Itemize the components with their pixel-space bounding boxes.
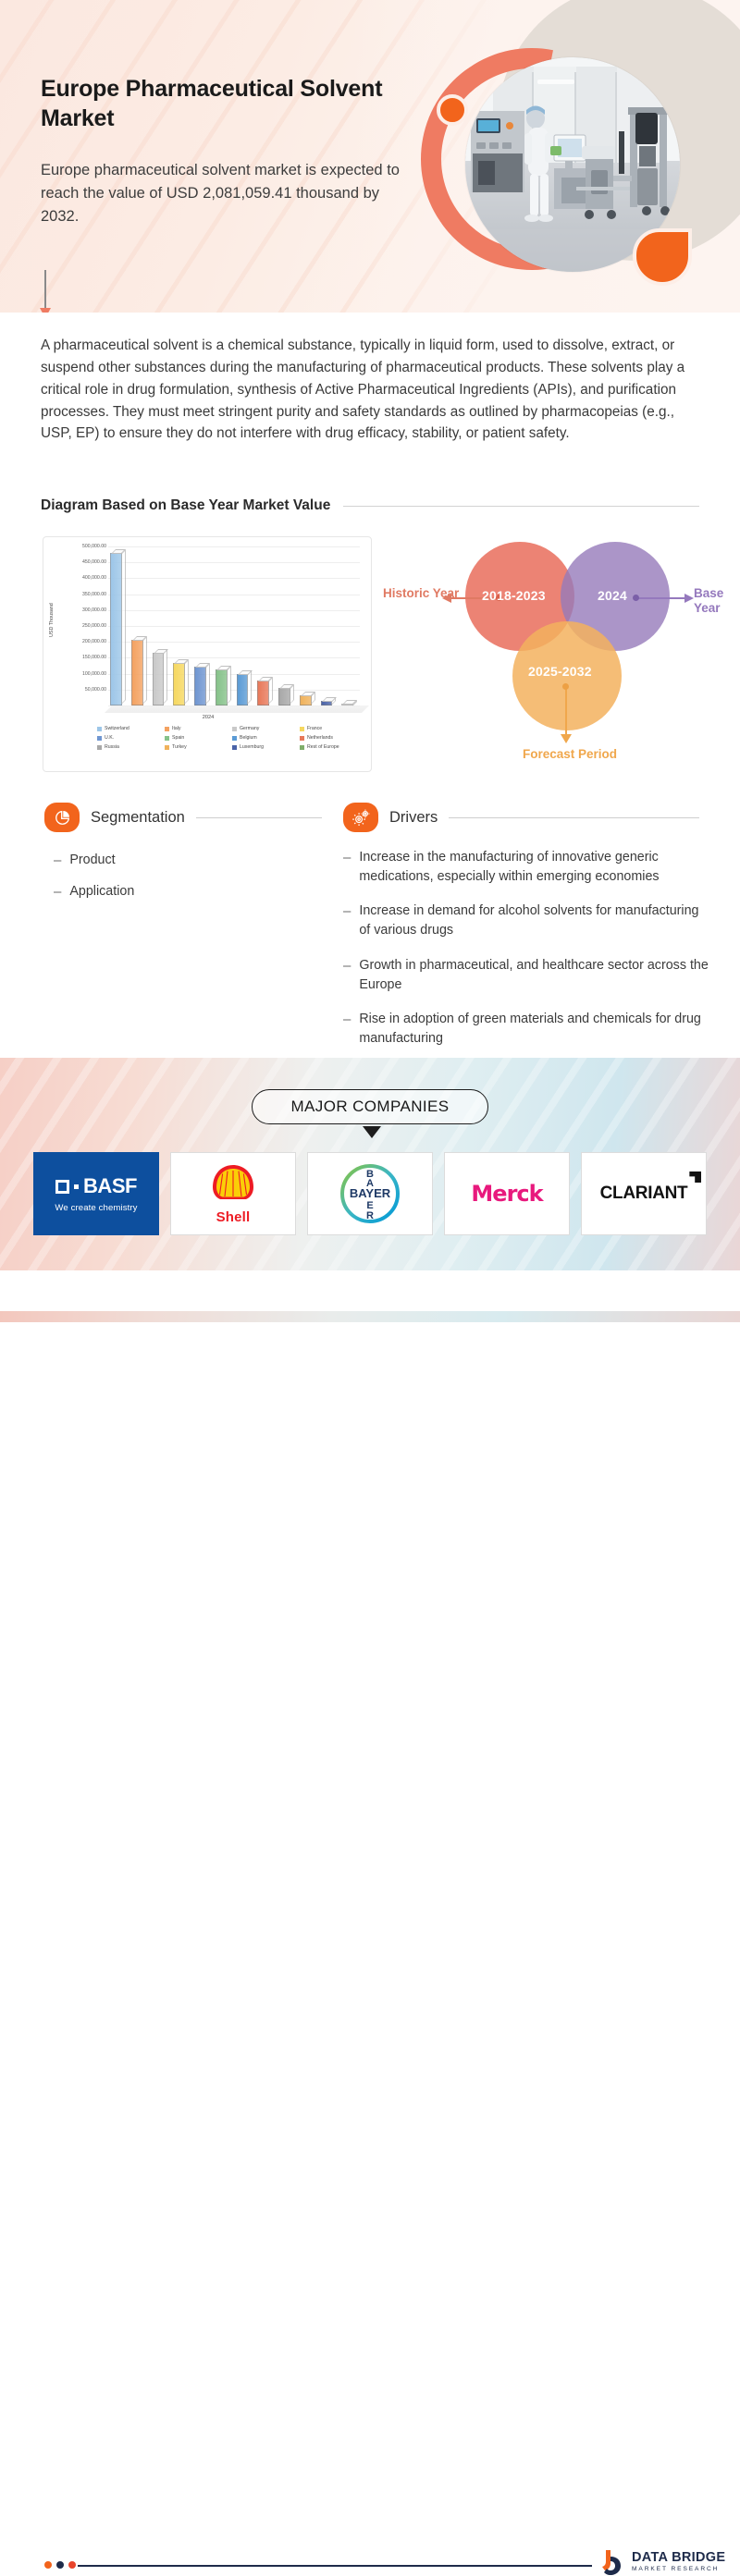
company-logo-row: BASF We create chemistry Shell: [33, 1152, 707, 1235]
chart-bar-wrap: [171, 546, 191, 705]
segmentation-title: Segmentation: [91, 809, 185, 827]
legend-label: France: [307, 726, 322, 731]
chart-legend-item[interactable]: Italy: [165, 726, 230, 731]
chart-bar-side: [184, 659, 189, 705]
chart-legend-item[interactable]: France: [300, 726, 365, 731]
chart-bar-side: [247, 670, 252, 705]
legend-label: Turkey: [172, 744, 187, 750]
venn-forecast-arrow-icon: [561, 734, 572, 743]
segmentation-divider: [196, 817, 322, 818]
chart-y-tick: 400,000.00: [56, 575, 106, 581]
legend-swatch-icon: [300, 745, 304, 750]
legend-swatch-icon: [232, 727, 237, 731]
footer-dot: [56, 2561, 64, 2569]
logo-merck-name: Merck: [471, 1181, 542, 1207]
chart-bar-side: [205, 663, 210, 705]
svg-text:A: A: [366, 1178, 374, 1189]
chart-plot-area: [108, 546, 360, 705]
list-item: –Product: [54, 851, 322, 871]
chart-bar: [278, 688, 290, 705]
venn-forecast-connector: [565, 688, 567, 738]
bottom-gradient-band: [0, 1311, 740, 1322]
chart-bar-wrap: [298, 546, 318, 705]
legend-swatch-icon: [232, 736, 237, 741]
chart-bar-side: [227, 666, 231, 705]
chart-bar-wrap: [192, 546, 213, 705]
bullet-dash-icon: –: [343, 1010, 351, 1048]
logo-shell-name: Shell: [209, 1209, 257, 1225]
bullet-dash-icon: –: [343, 848, 351, 886]
chart-bar-side: [121, 549, 126, 705]
segmentation-list: –Product–Application: [54, 851, 322, 914]
chart-bar-side: [268, 677, 273, 705]
list-item-label: Product: [69, 851, 115, 871]
chart-y-axis-ticks: 500,000.00450,000.00400,000.00350,000.00…: [56, 537, 106, 713]
gears-icon: [343, 803, 378, 832]
list-item: –Application: [54, 882, 322, 902]
svg-text:R: R: [366, 1210, 374, 1221]
venn-forecast-range: 2025-2032: [528, 664, 592, 679]
chart-y-tick: 100,000.00: [56, 671, 106, 677]
legend-swatch-icon: [97, 736, 102, 741]
chart-y-tick: 250,000.00: [56, 623, 106, 629]
logo-basf-name: BASF: [83, 1174, 137, 1198]
list-item: –Rise in adoption of green materials and…: [343, 1010, 709, 1048]
chart-bar: [216, 669, 228, 705]
bullet-dash-icon: –: [54, 882, 61, 902]
footer-tagline: MARKET RESEARCH: [632, 2567, 725, 2573]
chart-bar: [173, 663, 185, 705]
footer-dot: [44, 2561, 52, 2569]
hero-banner: Europe Pharmaceutical Solvent Market Eur…: [0, 0, 740, 313]
drivers-title: Drivers: [389, 809, 438, 827]
legend-label: Spain: [172, 735, 184, 741]
legend-swatch-icon: [165, 727, 169, 731]
chart-legend-item[interactable]: Germany: [232, 726, 298, 731]
logo-card-clariant[interactable]: CLARIANT: [581, 1152, 707, 1235]
hero-orange-dot-decor: [437, 94, 468, 126]
legend-label: U.K.: [105, 735, 114, 741]
chart-legend-item[interactable]: Rest of Europe: [300, 744, 365, 750]
legend-swatch-icon: [300, 736, 304, 741]
chart-y-tick: 200,000.00: [56, 639, 106, 644]
chart-floor-decor: [105, 705, 369, 713]
down-arrow-icon: [44, 270, 46, 309]
chart-x-axis-label: 2024: [43, 715, 373, 720]
chart-bar: [300, 695, 312, 705]
caret-down-icon: [363, 1126, 381, 1138]
chart-legend-item[interactable]: Russia: [97, 744, 163, 750]
chart-y-tick: 300,000.00: [56, 607, 106, 613]
clariant-mark-icon: [689, 1171, 701, 1183]
logo-clariant-name: CLARIANT: [600, 1184, 688, 1203]
chart-bar-wrap: [235, 546, 255, 705]
legend-swatch-icon: [97, 727, 102, 731]
list-item-label: Increase in the manufacturing of innovat…: [359, 848, 709, 886]
logo-card-basf[interactable]: BASF We create chemistry: [33, 1152, 159, 1235]
chart-bar-wrap: [129, 546, 150, 705]
chart-bar-side: [163, 649, 167, 705]
chart-legend-item[interactable]: Netherlands: [300, 735, 365, 741]
venn-base-range: 2024: [598, 588, 627, 603]
diagram-section-title: Diagram Based on Base Year Market Value: [41, 497, 330, 514]
chart-bar-side: [290, 684, 294, 705]
bayer-cross-icon: BAYER B A E R: [338, 1161, 402, 1226]
footer-dot: [68, 2561, 76, 2569]
chart-y-tick: 50,000.00: [56, 687, 106, 693]
chart-legend-item[interactable]: Luxemburg: [232, 744, 298, 750]
legend-label: Russia: [105, 744, 119, 750]
hero-orange-blob-decor: [633, 228, 692, 286]
list-item-label: Increase in demand for alcohol solvents …: [359, 902, 709, 939]
bullet-dash-icon: –: [343, 956, 351, 994]
legend-label: Germany: [240, 726, 259, 731]
legend-swatch-icon: [165, 745, 169, 750]
major-companies-title: MAJOR COMPANIES: [252, 1089, 488, 1124]
chart-bar-wrap: [277, 546, 297, 705]
chart-bar-wrap: [214, 546, 234, 705]
hero-subtitle: Europe pharmaceutical solvent market is …: [41, 159, 411, 228]
chart-bar: [153, 653, 165, 705]
chart-legend-item[interactable]: Switzerland: [97, 726, 163, 731]
venn-forecast-connector-dot: [562, 683, 569, 690]
shell-pecten-icon: [209, 1162, 257, 1204]
drivers-heading: Drivers: [343, 803, 699, 832]
legend-label: Italy: [172, 726, 181, 731]
chart-legend-item[interactable]: Belgium: [232, 735, 298, 741]
list-item-label: Rise in adoption of green materials and …: [359, 1010, 709, 1048]
chart-bar-wrap: [319, 546, 339, 705]
bullet-dash-icon: –: [343, 902, 351, 939]
legend-swatch-icon: [97, 745, 102, 750]
legend-label: Rest of Europe: [307, 744, 339, 750]
chart-bar: [110, 553, 122, 705]
chart-legend-item[interactable]: Spain: [165, 735, 230, 741]
segmentation-heading: Segmentation: [44, 803, 322, 832]
page-title: Europe Pharmaceutical Solvent Market: [41, 74, 411, 133]
chart-bar-wrap: [151, 546, 171, 705]
heading-divider: [343, 506, 699, 507]
venn-base-connector: [636, 597, 688, 599]
logo-basf-tagline: We create chemistry: [55, 1203, 137, 1213]
bar-chart-card: USD Thousand 500,000.00450,000.00400,000…: [43, 536, 372, 772]
chart-legend-item[interactable]: Turkey: [165, 744, 230, 750]
chart-bar: [194, 667, 206, 705]
logo-card-shell[interactable]: Shell: [170, 1152, 296, 1235]
chart-bar-wrap: [108, 546, 129, 705]
chart-bar: [237, 674, 249, 705]
legend-swatch-icon: [232, 745, 237, 750]
footer-brand: DATA BRIDGE: [632, 2551, 725, 2565]
chart-y-axis-title: USD Thousand: [49, 603, 55, 637]
pie-chart-icon: [44, 803, 80, 832]
list-item-label: Application: [69, 882, 134, 902]
list-item-label: Growth in pharmaceutical, and healthcare…: [359, 956, 709, 994]
diagram-section-heading: Diagram Based on Base Year Market Value: [41, 497, 699, 514]
drivers-list: –Increase in the manufacturing of innova…: [343, 848, 709, 1064]
venn-historic-arrow-icon: [442, 594, 451, 603]
list-item: –Growth in pharmaceutical, and healthcar…: [343, 956, 709, 994]
chart-bar-side: [142, 636, 147, 705]
legend-label: Netherlands: [307, 735, 333, 741]
footer-rule: [78, 2565, 592, 2567]
chart-bar: [257, 681, 269, 705]
chart-y-tick: 500,000.00: [56, 544, 106, 549]
list-item: –Increase in the manufacturing of innova…: [343, 848, 709, 886]
chart-bar-wrap: [339, 546, 360, 705]
legend-swatch-icon: [165, 736, 169, 741]
venn-base-arrow-icon: [684, 594, 694, 603]
venn-forecast-label: Forecast Period: [496, 747, 644, 762]
logo-card-bayer[interactable]: BAYER B A E R: [307, 1152, 433, 1235]
chart-y-tick: 450,000.00: [56, 559, 106, 565]
venn-historic-range: 2018-2023: [482, 588, 546, 603]
footer-dots: [44, 2561, 76, 2569]
intro-paragraph: A pharmaceutical solvent is a chemical s…: [41, 335, 699, 445]
chart-y-tick: 350,000.00: [56, 592, 106, 597]
chart-bars: [108, 546, 360, 705]
legend-label: Switzerland: [105, 726, 129, 731]
logo-card-merck[interactable]: Merck: [444, 1152, 570, 1235]
bullet-dash-icon: –: [54, 851, 61, 871]
chart-y-tick: 150,000.00: [56, 655, 106, 660]
chart-legend-item[interactable]: U.K.: [97, 735, 163, 741]
chart-bar-wrap: [255, 546, 276, 705]
footer-logo: DATA BRIDGE MARKET RESEARCH: [599, 2548, 725, 2576]
chart-bar: [131, 640, 143, 705]
legend-swatch-icon: [300, 727, 304, 731]
chart-legend: SwitzerlandItalyGermanyFranceU.K.SpainBe…: [97, 726, 365, 750]
data-bridge-mark-icon: [599, 2548, 625, 2576]
venn-base-connector-dot: [633, 595, 639, 601]
legend-label: Luxemburg: [240, 744, 264, 750]
list-item: –Increase in demand for alcohol solvents…: [343, 902, 709, 939]
venn-base-label: Base Year: [694, 586, 740, 617]
drivers-divider: [449, 817, 699, 818]
venn-diagram: 2018-2023 2024 2025-2032 Historic Year B…: [377, 533, 740, 775]
legend-label: Belgium: [240, 735, 257, 741]
